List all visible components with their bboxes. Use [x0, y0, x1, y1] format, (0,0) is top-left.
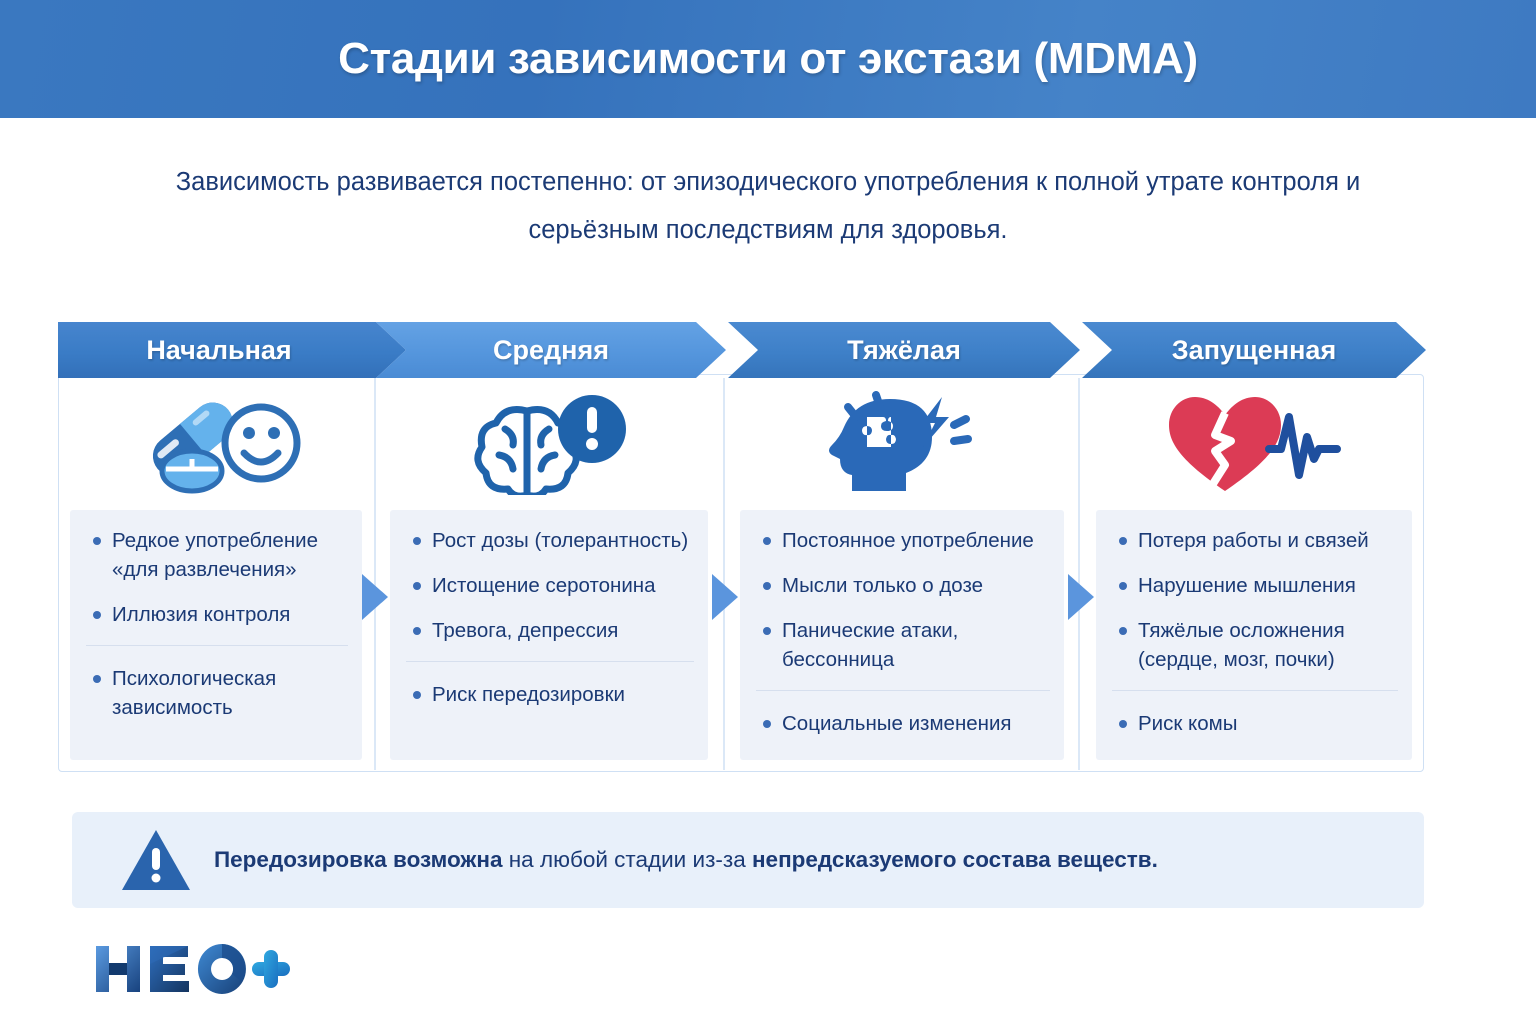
stage-icon-slot-1	[58, 384, 374, 502]
stage-banner-2[interactable]: Средняя	[376, 322, 726, 378]
stage-bullets-3: Постоянное употребление Мысли только о д…	[740, 510, 1064, 760]
page-title: Стадии зависимости от экстази (MDMA)	[338, 34, 1198, 84]
stage-banner-4[interactable]: Запущенная	[1082, 322, 1426, 378]
list-item: Тяжёлые осложнения (сердце, мозг, почки)	[1112, 616, 1398, 674]
warning-bold-end: непредсказуемого состава веществ.	[752, 847, 1158, 872]
list-item: Тревога, депрессия	[406, 616, 694, 645]
subtitle-line-1: Зависимость развивается постепенно: от э…	[176, 168, 1224, 196]
warning-text: Передозировка возможна на любой стадии и…	[214, 847, 1158, 873]
broken-heart-ecg-icon	[1165, 391, 1341, 495]
logo[interactable]	[92, 938, 292, 1000]
bullet-list-4: Потеря работы и связей Нарушение мышлени…	[1112, 526, 1398, 738]
list-item: Нарушение мышления	[1112, 571, 1398, 600]
warning-bold-start: Передозировка возможна	[214, 847, 503, 872]
brain-alert-icon	[465, 391, 635, 495]
header-bar: Стадии зависимости от экстази (MDMA)	[0, 0, 1536, 118]
stage-label-1: Начальная	[146, 335, 291, 366]
stage-label-3: Тяжёлая	[847, 335, 961, 366]
list-item: Мысли только о дозе	[756, 571, 1050, 600]
warning-middle: на любой стадии из-за	[503, 847, 752, 872]
subtitle: Зависимость развивается постепенно: от э…	[168, 158, 1368, 254]
list-item: Психологическая зависимость	[86, 645, 348, 722]
list-item: Редкое употребление «для развлечения»	[86, 526, 348, 584]
stage-icon-slot-4	[1080, 384, 1426, 502]
stage-banner-1[interactable]: Начальная	[58, 322, 406, 378]
warning-banner: Передозировка возможна на любой стадии и…	[72, 812, 1424, 908]
stage-bullets-4: Потеря работы и связей Нарушение мышлени…	[1096, 510, 1412, 760]
list-item: Риск комы	[1112, 690, 1398, 738]
list-item: Риск передозировки	[406, 661, 694, 709]
stage-bullets-1: Редкое употребление «для развлечения» Ил…	[70, 510, 362, 760]
stage-label-4: Запущенная	[1172, 335, 1336, 366]
bullet-list-3: Постоянное употребление Мысли только о д…	[756, 526, 1050, 738]
stage-icon-slot-3	[725, 384, 1078, 502]
pills-smiley-icon	[128, 391, 304, 495]
neo-plus-logo-icon	[92, 938, 292, 1000]
head-puzzle-lightning-icon	[818, 391, 986, 495]
list-item: Потеря работы и связей	[1112, 526, 1398, 555]
stages-container: Начальная Средняя Тяжёлая Запущенная	[58, 322, 1426, 774]
stage-label-2: Средняя	[493, 335, 609, 366]
infographic-page: Стадии зависимости от экстази (MDMA) Зав…	[0, 0, 1536, 1024]
list-item: Истощение серотонина	[406, 571, 694, 600]
stage-banner-3[interactable]: Тяжёлая	[728, 322, 1080, 378]
list-item: Постоянное употребление	[756, 526, 1050, 555]
list-item: Социальные изменения	[756, 690, 1050, 738]
stage-bullets-2: Рост дозы (толерантность) Истощение серо…	[390, 510, 708, 760]
list-item: Иллюзия контроля	[86, 600, 348, 629]
list-item: Панические атаки, бессонница	[756, 616, 1050, 674]
bullet-list-1: Редкое употребление «для развлечения» Ил…	[86, 526, 348, 722]
bullet-list-2: Рост дозы (толерантность) Истощение серо…	[406, 526, 694, 709]
stage-icon-slot-2	[376, 384, 723, 502]
list-item: Рост дозы (толерантность)	[406, 526, 694, 555]
warning-triangle-icon	[120, 828, 192, 892]
